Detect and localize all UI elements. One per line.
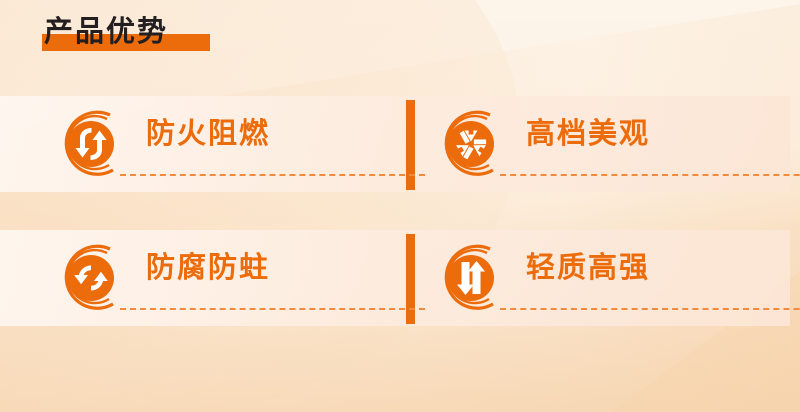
feature-dashed-rule <box>120 174 425 176</box>
page-title-label: 产品优势 <box>40 18 168 47</box>
feature-label: 高档美观 <box>526 112 650 156</box>
page-title: 产品优势 <box>40 10 168 54</box>
recycle-triangle-icon <box>430 106 506 182</box>
vertical-divider-top <box>406 100 415 190</box>
feature-label: 防腐防蛀 <box>146 246 270 290</box>
feature-dashed-rule <box>500 308 800 310</box>
circular-arrows-down-up-icon <box>50 106 126 182</box>
arrows-down-up-straight-icon <box>430 240 506 316</box>
feature-dashed-rule <box>120 308 425 310</box>
refresh-loop-arrows-icon <box>50 240 126 316</box>
feature-label: 防火阻燃 <box>146 112 270 156</box>
product-advantages-banner: 产品优势 防火阻燃 <box>0 0 800 412</box>
background-bottom-vignette <box>0 0 800 412</box>
feature-label: 轻质高强 <box>526 246 650 290</box>
vertical-divider-bottom <box>406 234 415 324</box>
feature-dashed-rule <box>500 174 800 176</box>
